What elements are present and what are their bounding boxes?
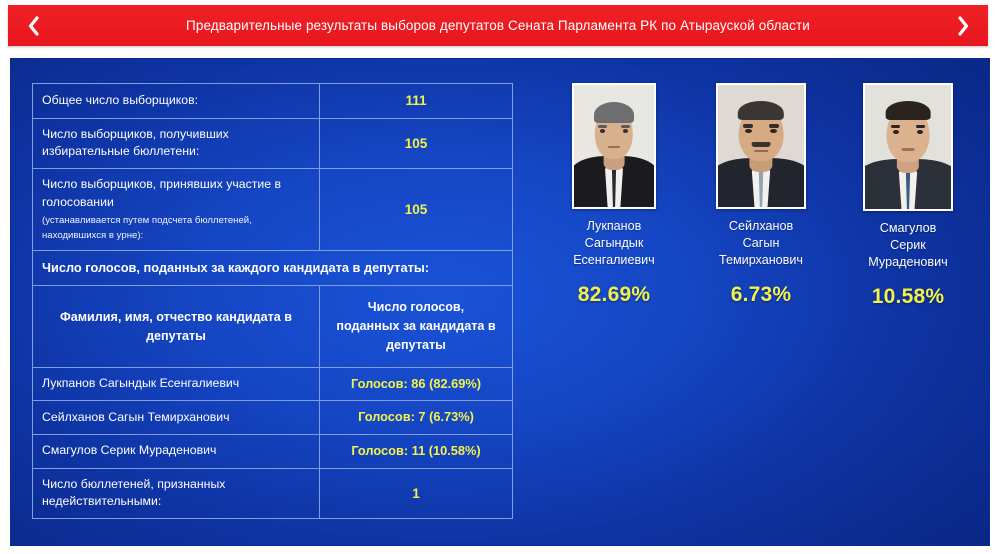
row-label-invalid-ballots: Число бюллетеней, признанных недействите… <box>33 468 320 519</box>
candidate-photo-smagulov <box>863 83 953 211</box>
row-value-total-electors: 111 <box>320 84 513 119</box>
column-header-candidate-name: Фамилия, имя, отчество кандидата в депут… <box>33 286 320 368</box>
candidate-name-cell: Сейлханов Сагын Темирханович <box>33 401 320 435</box>
table-row: Смагулов Серик Мураденович Голосов: 11 (… <box>33 435 513 469</box>
candidate-card: Сейлханов Сагын Темирханович 6.73% <box>698 83 824 307</box>
table-row-section-header: Число голосов, поданных за каждого канди… <box>33 250 513 286</box>
chevron-right-icon[interactable] <box>952 12 974 40</box>
candidate-photo-seilkhanov <box>716 83 806 209</box>
candidate-photo-lukpanov <box>572 83 656 209</box>
table-row: Лукпанов Сагындык Есенгалиевич Голосов: … <box>33 367 513 401</box>
row-value-ballots-received: 105 <box>320 118 513 169</box>
content-panel: Общее число выборщиков: 111 Число выборщ… <box>10 58 990 546</box>
candidate-name-cell: Смагулов Серик Мураденович <box>33 435 320 469</box>
row-value-invalid-ballots: 1 <box>320 468 513 519</box>
results-table: Общее число выборщиков: 111 Число выборщ… <box>32 83 513 519</box>
candidates-list: Лукпанов Сагындык Есенгалиевич 82.69% <box>551 83 971 309</box>
table-row: Сейлханов Сагын Темирханович Голосов: 7 … <box>33 401 513 435</box>
candidate-votes-cell: Голосов: 11 (10.58%) <box>320 435 513 469</box>
candidate-percent: 82.69% <box>578 283 650 307</box>
row-value-participated: 105 <box>320 169 513 251</box>
candidate-name: Сейлханов Сагын Темирханович <box>719 218 803 269</box>
table-row-column-headers: Фамилия, имя, отчество кандидата в депут… <box>33 286 513 368</box>
column-header-votes: Число голосов, поданных за кандидата в д… <box>320 286 513 368</box>
candidate-name: Смагулов Серик Мураденович <box>868 220 947 271</box>
candidate-percent: 6.73% <box>731 283 792 307</box>
candidate-name-cell: Лукпанов Сагындык Есенгалиевич <box>33 367 320 401</box>
candidate-votes-cell: Голосов: 86 (82.69%) <box>320 367 513 401</box>
row-label-participated: Число выборщиков, принявших участие в го… <box>33 169 320 251</box>
table-row: Число бюллетеней, признанных недействите… <box>33 468 513 519</box>
banner: Предварительные результаты выборов депут… <box>8 5 988 46</box>
chevron-left-icon[interactable] <box>22 12 44 40</box>
row-label-total-electors: Общее число выборщиков: <box>33 84 320 119</box>
table-row: Общее число выборщиков: 111 <box>33 84 513 119</box>
banner-title: Предварительные результаты выборов депут… <box>44 18 952 33</box>
candidate-percent: 10.58% <box>872 285 944 309</box>
candidate-card: Смагулов Серик Мураденович 10.58% <box>845 83 971 309</box>
table-row: Число выборщиков, принявших участие в го… <box>33 169 513 251</box>
table-row: Число выборщиков, получивших избирательн… <box>33 118 513 169</box>
candidate-votes-cell: Голосов: 7 (6.73%) <box>320 401 513 435</box>
candidate-card: Лукпанов Сагындык Есенгалиевич 82.69% <box>551 83 677 307</box>
row-label-ballots-received: Число выборщиков, получивших избирательн… <box>33 118 320 169</box>
candidate-name: Лукпанов Сагындык Есенгалиевич <box>573 218 655 269</box>
election-results-page: Предварительные результаты выборов депут… <box>0 0 1000 554</box>
section-header-votes-per-candidate: Число голосов, поданных за каждого канди… <box>33 250 513 286</box>
